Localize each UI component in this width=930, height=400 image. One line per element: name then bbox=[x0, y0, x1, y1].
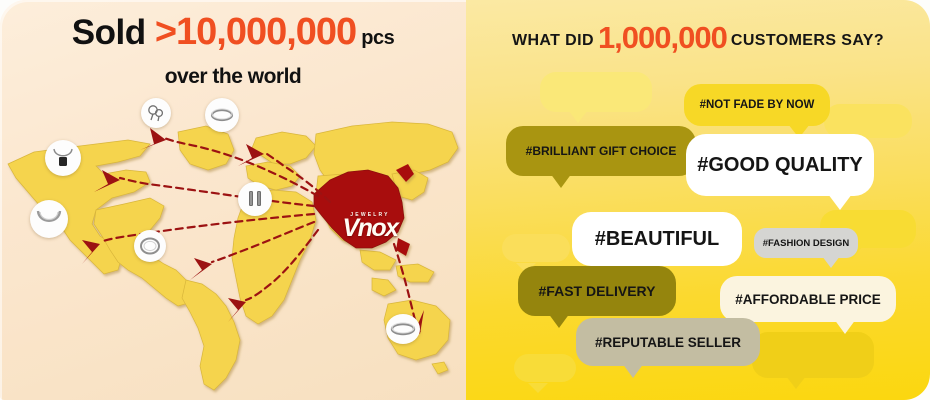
bubble-tail bbox=[822, 256, 840, 268]
ring-band-icon bbox=[389, 318, 417, 340]
ghost-bubble-5 bbox=[752, 332, 874, 378]
bubble-beautiful[interactable]: #BEAUTIFUL bbox=[572, 212, 742, 266]
bracelet-icon bbox=[209, 102, 235, 128]
bracelet-marker bbox=[205, 98, 239, 132]
ring-band-marker bbox=[386, 314, 420, 344]
bangle-icon bbox=[138, 234, 162, 258]
chain-necklace-marker bbox=[30, 200, 68, 238]
bubble-fast-delivery[interactable]: #FAST DELIVERY bbox=[518, 266, 676, 316]
headline-unit: pcs bbox=[356, 27, 394, 49]
bubble-label: #GOOD QUALITY bbox=[697, 154, 863, 177]
headline-prefix: Sold bbox=[72, 13, 155, 52]
world-map bbox=[0, 78, 466, 400]
title-prefix: WHAT DID bbox=[512, 32, 594, 49]
ghost-bubble-2 bbox=[824, 104, 912, 138]
bubble-affordable-price[interactable]: #AFFORDABLE PRICE bbox=[720, 276, 896, 322]
bubble-tail bbox=[834, 319, 856, 334]
bubble-tail bbox=[828, 194, 852, 210]
bubble-reputable-seller[interactable]: #REPUTABLE SELLER bbox=[576, 318, 760, 366]
bubble-label: #FAST DELIVERY bbox=[539, 283, 656, 299]
ghost-bubble-4 bbox=[502, 234, 570, 262]
bubble-tail bbox=[550, 173, 572, 188]
bangle-marker bbox=[134, 230, 166, 262]
earrings-icon bbox=[145, 102, 167, 124]
pendant-necklace-marker bbox=[45, 140, 81, 176]
cufflinks-marker bbox=[238, 182, 272, 216]
bubble-label: #NOT FADE BY NOW bbox=[700, 99, 815, 111]
bubble-good-quality[interactable]: #GOOD QUALITY bbox=[686, 134, 874, 196]
title-number: 1,000,000 bbox=[598, 20, 727, 55]
bubble-fashion-design[interactable]: #FASHION DESIGN bbox=[754, 228, 858, 258]
right-panel-customer-hashtags: WHAT DID1,000,000CUSTOMERS SAY? #NOT FAD… bbox=[466, 0, 930, 400]
pendant-necklace-icon bbox=[49, 144, 77, 172]
bubble-label: #REPUTABLE SELLER bbox=[595, 335, 741, 350]
bubble-brilliant-gift-choice[interactable]: #BRILLIANT GIFT CHOICE bbox=[506, 126, 696, 176]
bubble-label: #BEAUTIFUL bbox=[595, 228, 719, 251]
chain-necklace-icon bbox=[34, 204, 64, 234]
left-panel-world-map: Sold >10,000,000 pcs over the world bbox=[0, 0, 466, 400]
cufflinks-icon bbox=[242, 186, 268, 212]
bubble-label: #FASHION DESIGN bbox=[763, 238, 850, 249]
bubble-label: #AFFORDABLE PRICE bbox=[735, 292, 881, 307]
bubble-tail bbox=[548, 313, 570, 328]
bubble-not-fade-by-now[interactable]: #NOT FADE BY NOW bbox=[684, 84, 830, 126]
earrings-marker bbox=[141, 98, 171, 128]
headline-number: >10,000,000 bbox=[155, 11, 356, 53]
promo-banner: Sold >10,000,000 pcs over the world bbox=[0, 0, 930, 400]
ghost-bubble-6 bbox=[514, 354, 576, 382]
bubble-tail bbox=[622, 363, 644, 378]
ghost-bubble-1 bbox=[540, 72, 652, 112]
right-panel-title: WHAT DID1,000,000CUSTOMERS SAY? bbox=[466, 20, 930, 56]
title-suffix: CUSTOMERS SAY? bbox=[731, 32, 884, 49]
bubble-label: #BRILLIANT GIFT CHOICE bbox=[526, 144, 677, 158]
